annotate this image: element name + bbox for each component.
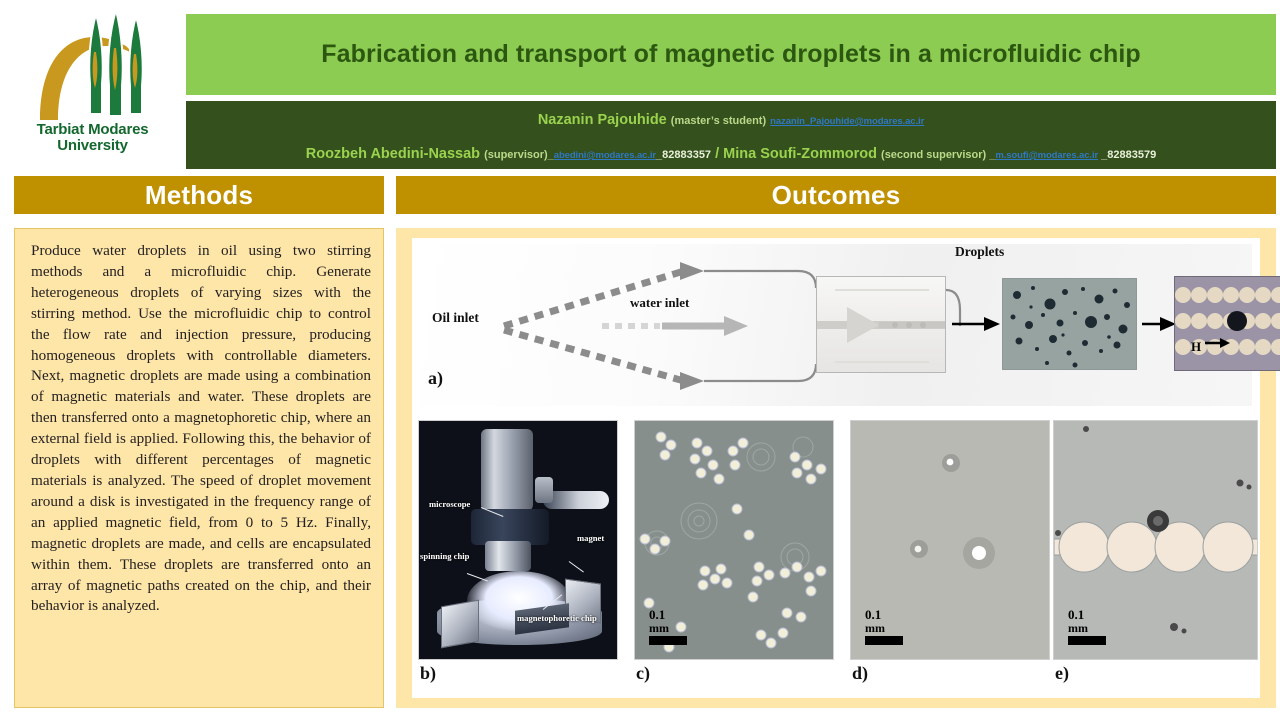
droplets-in-oil-image	[1002, 278, 1137, 370]
outcomes-heading-label: Outcomes	[772, 180, 901, 211]
author-3-role: (second supervisor)	[881, 149, 986, 161]
focus-knob	[535, 477, 553, 503]
microscope-barrel	[481, 429, 533, 511]
objective-lens	[485, 541, 531, 571]
author-3-name: Mina Soufi-Zommorod	[723, 146, 877, 162]
author-3-phone: 82883579	[1107, 149, 1156, 161]
magnetic-track-array-image: H	[1174, 276, 1280, 371]
scale-bar-rule-e	[1068, 636, 1106, 645]
author-line-supervisors: Roozbeh Abedini-Nassab (supervisor)_abed…	[186, 146, 1276, 162]
logo-caption-line1: Tarbiat Modares	[0, 122, 185, 138]
microscope-setup-photo: microscope spinning chip magnet magnetop…	[418, 420, 618, 660]
oil-inlet-label: Oil inlet	[432, 310, 479, 326]
outcomes-content: Oil inlet water inlet Droplets a)	[412, 238, 1260, 698]
scale-bar-c: 0.1 mm	[649, 608, 687, 645]
scale-unit-e: mm	[1068, 622, 1106, 635]
author-1-role: (master’s student)	[671, 115, 766, 127]
leader-line-magnet	[569, 561, 584, 572]
scale-value-d: 0.1	[865, 608, 903, 622]
droplets-label: Droplets	[955, 244, 1004, 260]
author-bar: Nazanin Pajouhide (master’s student) naz…	[186, 101, 1276, 169]
panel-label-e: e)	[1055, 663, 1069, 684]
scale-value-c: 0.1	[649, 608, 687, 622]
scale-bar-rule-c	[649, 636, 687, 645]
process-schematic-figure: Oil inlet water inlet Droplets a)	[412, 238, 1260, 413]
panel-label-b: b)	[420, 663, 436, 684]
poster-root: Tarbiat Modares University Fabrication a…	[0, 0, 1280, 720]
annotation-spinning-chip: spinning chip	[420, 551, 469, 561]
panel-label-d: d)	[852, 663, 868, 684]
scale-unit-d: mm	[865, 622, 903, 635]
methods-panel: Produce water droplets in oil using two …	[14, 228, 384, 708]
methods-heading-label: Methods	[145, 180, 253, 211]
author-1-email-link[interactable]: nazanin_Pajouhide@modares.ac.ir	[770, 116, 924, 127]
author-1-name: Nazanin Pajouhide	[538, 112, 667, 128]
microscope-housing	[471, 509, 549, 545]
poster-title-bar: Fabrication and transport of magnetic dr…	[186, 14, 1276, 95]
scale-unit-c: mm	[649, 622, 687, 635]
scale-value-e: 0.1	[1068, 608, 1106, 622]
magnetic-droplet-marker	[1227, 311, 1247, 331]
scale-bar-rule-d	[865, 636, 903, 645]
logo-mark-icon	[30, 8, 160, 128]
heterogeneous-droplets-micrograph: 0.1 mm	[634, 420, 834, 660]
section-heading-outcomes: Outcomes	[396, 176, 1276, 214]
author-3-email-link[interactable]: m.soufi@modares.ac.ir	[995, 150, 1098, 161]
logo-caption: Tarbiat Modares University	[0, 122, 185, 154]
magnetic-field-label: H	[1191, 339, 1201, 355]
annotation-magnetophoretic-chip: magnetophoretic chip	[517, 613, 597, 623]
microscope-rig-illustration: microscope spinning chip magnet magnetop…	[419, 421, 618, 660]
page-title: Fabrication and transport of magnetic dr…	[303, 40, 1159, 69]
magnet-block-left	[441, 600, 479, 649]
author-2-role: (supervisor)	[484, 149, 548, 161]
methods-body-text: Produce water droplets in oil using two …	[31, 241, 371, 617]
author-2-name: Roozbeh Abedini-Nassab	[306, 146, 480, 162]
micrograph-row: microscope spinning chip magnet magnetop…	[412, 420, 1260, 698]
author-2-email-link[interactable]: abedini@modares.ac.ir	[554, 150, 656, 161]
logo-caption-line2: University	[0, 138, 185, 154]
homogeneous-droplets-micrograph: 0.1 mm	[850, 420, 1050, 660]
microfluidic-chip-junction-image	[816, 276, 946, 373]
university-logo: Tarbiat Modares University	[0, 0, 185, 172]
scale-bar-e: 0.1 mm	[1068, 608, 1106, 645]
panel-label-a: a)	[428, 368, 443, 389]
annotation-microscope: microscope	[429, 499, 470, 509]
water-inlet-label: water inlet	[630, 295, 689, 311]
annotation-magnet: magnet	[577, 533, 604, 543]
section-heading-methods: Methods	[14, 176, 384, 214]
scale-bar-d: 0.1 mm	[865, 608, 903, 645]
magnetic-droplet-on-track-micrograph: 0.1 mm	[1053, 420, 1258, 660]
author-2-phone: 82883357	[662, 149, 711, 161]
panel-label-c: c)	[636, 663, 650, 684]
author-line-primary: Nazanin Pajouhide (master’s student) naz…	[186, 112, 1276, 128]
outcomes-panel: Oil inlet water inlet Droplets a)	[396, 228, 1276, 708]
